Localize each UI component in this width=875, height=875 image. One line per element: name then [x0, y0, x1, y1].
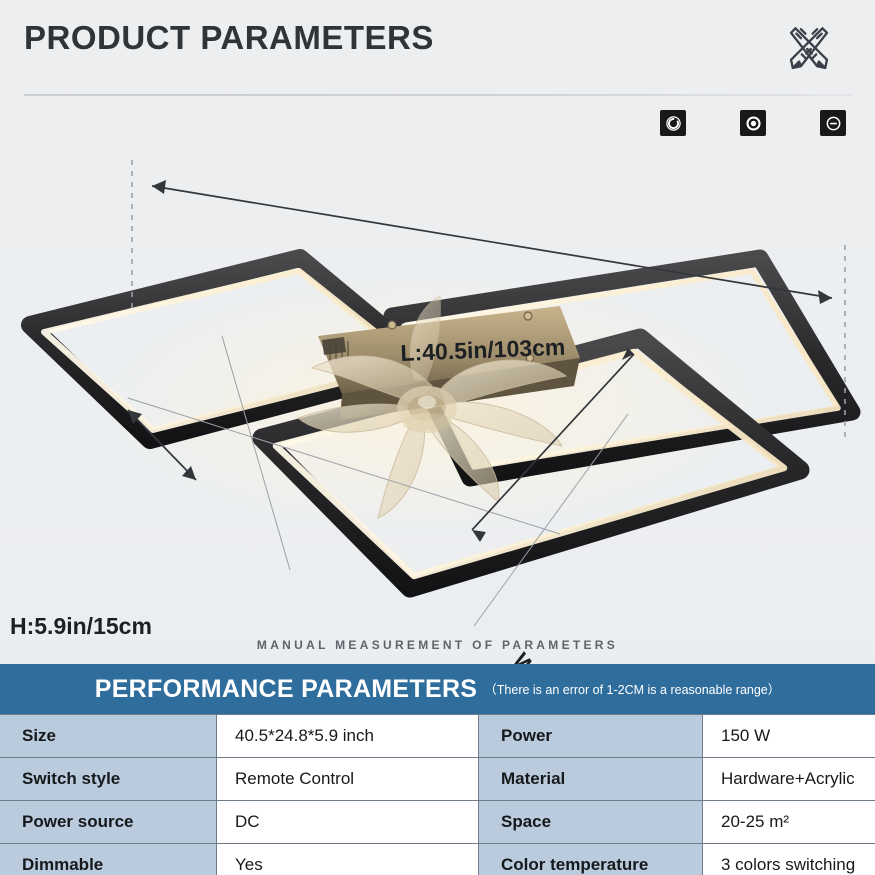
dimmer-badge-icon	[820, 110, 846, 136]
spec-key: Switch style	[0, 758, 217, 801]
product-parameters-page: PRODUCT PARAMETERS	[0, 0, 875, 875]
table-row: Dimmable Yes Color temperature 3 colors …	[0, 844, 875, 875]
performance-banner: PERFORMANCE PARAMETERS （There is an erro…	[0, 664, 875, 714]
crossed-pencil-ruler-icon	[782, 22, 836, 76]
light-mode-badge-icon	[740, 110, 766, 136]
spec-key: Space	[479, 801, 703, 844]
spec-value: 3 colors switching	[703, 844, 875, 875]
spec-key: Color temperature	[479, 844, 703, 875]
spec-value: 150 W	[703, 715, 875, 758]
spec-value: Remote Control	[217, 758, 479, 801]
spec-key: Size	[0, 715, 217, 758]
spec-key: Power source	[0, 801, 217, 844]
specification-table: Size 40.5*24.8*5.9 inch Power 150 W Swit…	[0, 714, 875, 875]
spec-value: 40.5*24.8*5.9 inch	[217, 715, 479, 758]
performance-banner-note: （There is an error of 1-2CM is a reasona…	[484, 679, 780, 700]
page-header: PRODUCT PARAMETERS	[0, 0, 875, 108]
header-divider	[24, 94, 852, 96]
table-row: Switch style Remote Control Material Har…	[0, 758, 875, 801]
spec-value: Hardware+Acrylic	[703, 758, 875, 801]
spec-value: 20-25 m²	[703, 801, 875, 844]
spec-key: Power	[479, 715, 703, 758]
spec-value: Yes	[217, 844, 479, 875]
product-illustration: L:40.5in/103cm H:5.9in/15cm W:24.8in/63c…	[0, 140, 875, 640]
height-label: H:5.9in/15cm	[10, 613, 152, 640]
page-title: PRODUCT PARAMETERS	[24, 19, 434, 57]
spec-key: Dimmable	[0, 844, 217, 875]
fan-speed-badge-icon	[660, 110, 686, 136]
spec-key: Material	[479, 758, 703, 801]
measurement-caption: MANUAL MEASUREMENT OF PARAMETERS	[0, 638, 875, 652]
feature-badges	[0, 110, 875, 140]
table-row: Size 40.5*24.8*5.9 inch Power 150 W	[0, 715, 875, 758]
table-row: Power source DC Space 20-25 m²	[0, 801, 875, 844]
spec-value: DC	[217, 801, 479, 844]
performance-banner-title: PERFORMANCE PARAMETERS	[95, 675, 478, 704]
